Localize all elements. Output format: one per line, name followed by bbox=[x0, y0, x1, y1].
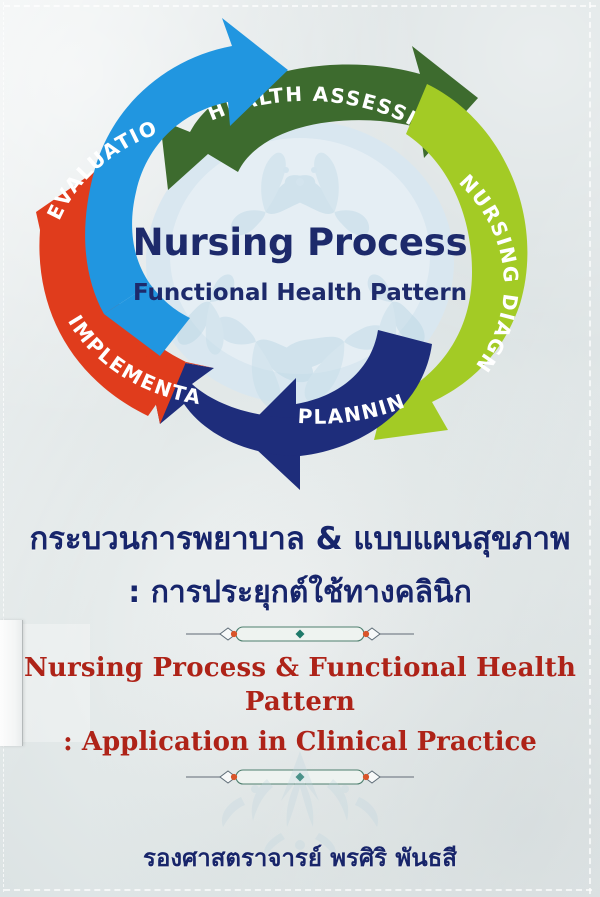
diagram-center-title: Nursing Process bbox=[133, 221, 468, 264]
author-name: รองศาสตราจารย์ พรศิริ พันธสี bbox=[0, 838, 600, 877]
diagram-center-subtitle: Functional Health Pattern bbox=[133, 280, 467, 306]
title-block: กระบวนการพยาบาล & แบบแผนสุขภาพ : การประย… bbox=[0, 516, 600, 877]
ornament-divider-lower bbox=[0, 766, 600, 788]
cover-edge-top bbox=[4, 5, 596, 7]
book-cover: HEALTH ASSESSMENT NURSING DIAGNOSIS PLAN… bbox=[0, 0, 600, 897]
english-title-line-1: Nursing Process & Functional Health Patt… bbox=[0, 651, 600, 719]
thai-title-line-2: : การประยุกต์ใช้ทางคลินิก bbox=[0, 570, 600, 616]
english-title-line-2: : Application in Clinical Practice bbox=[0, 725, 600, 759]
thai-title-line-1: กระบวนการพยาบาล & แบบแผนสุขภาพ bbox=[0, 516, 600, 562]
nursing-process-diagram: HEALTH ASSESSMENT NURSING DIAGNOSIS PLAN… bbox=[0, 12, 600, 512]
ornament-divider-upper bbox=[0, 623, 600, 645]
cover-edge-bottom bbox=[4, 889, 592, 891]
